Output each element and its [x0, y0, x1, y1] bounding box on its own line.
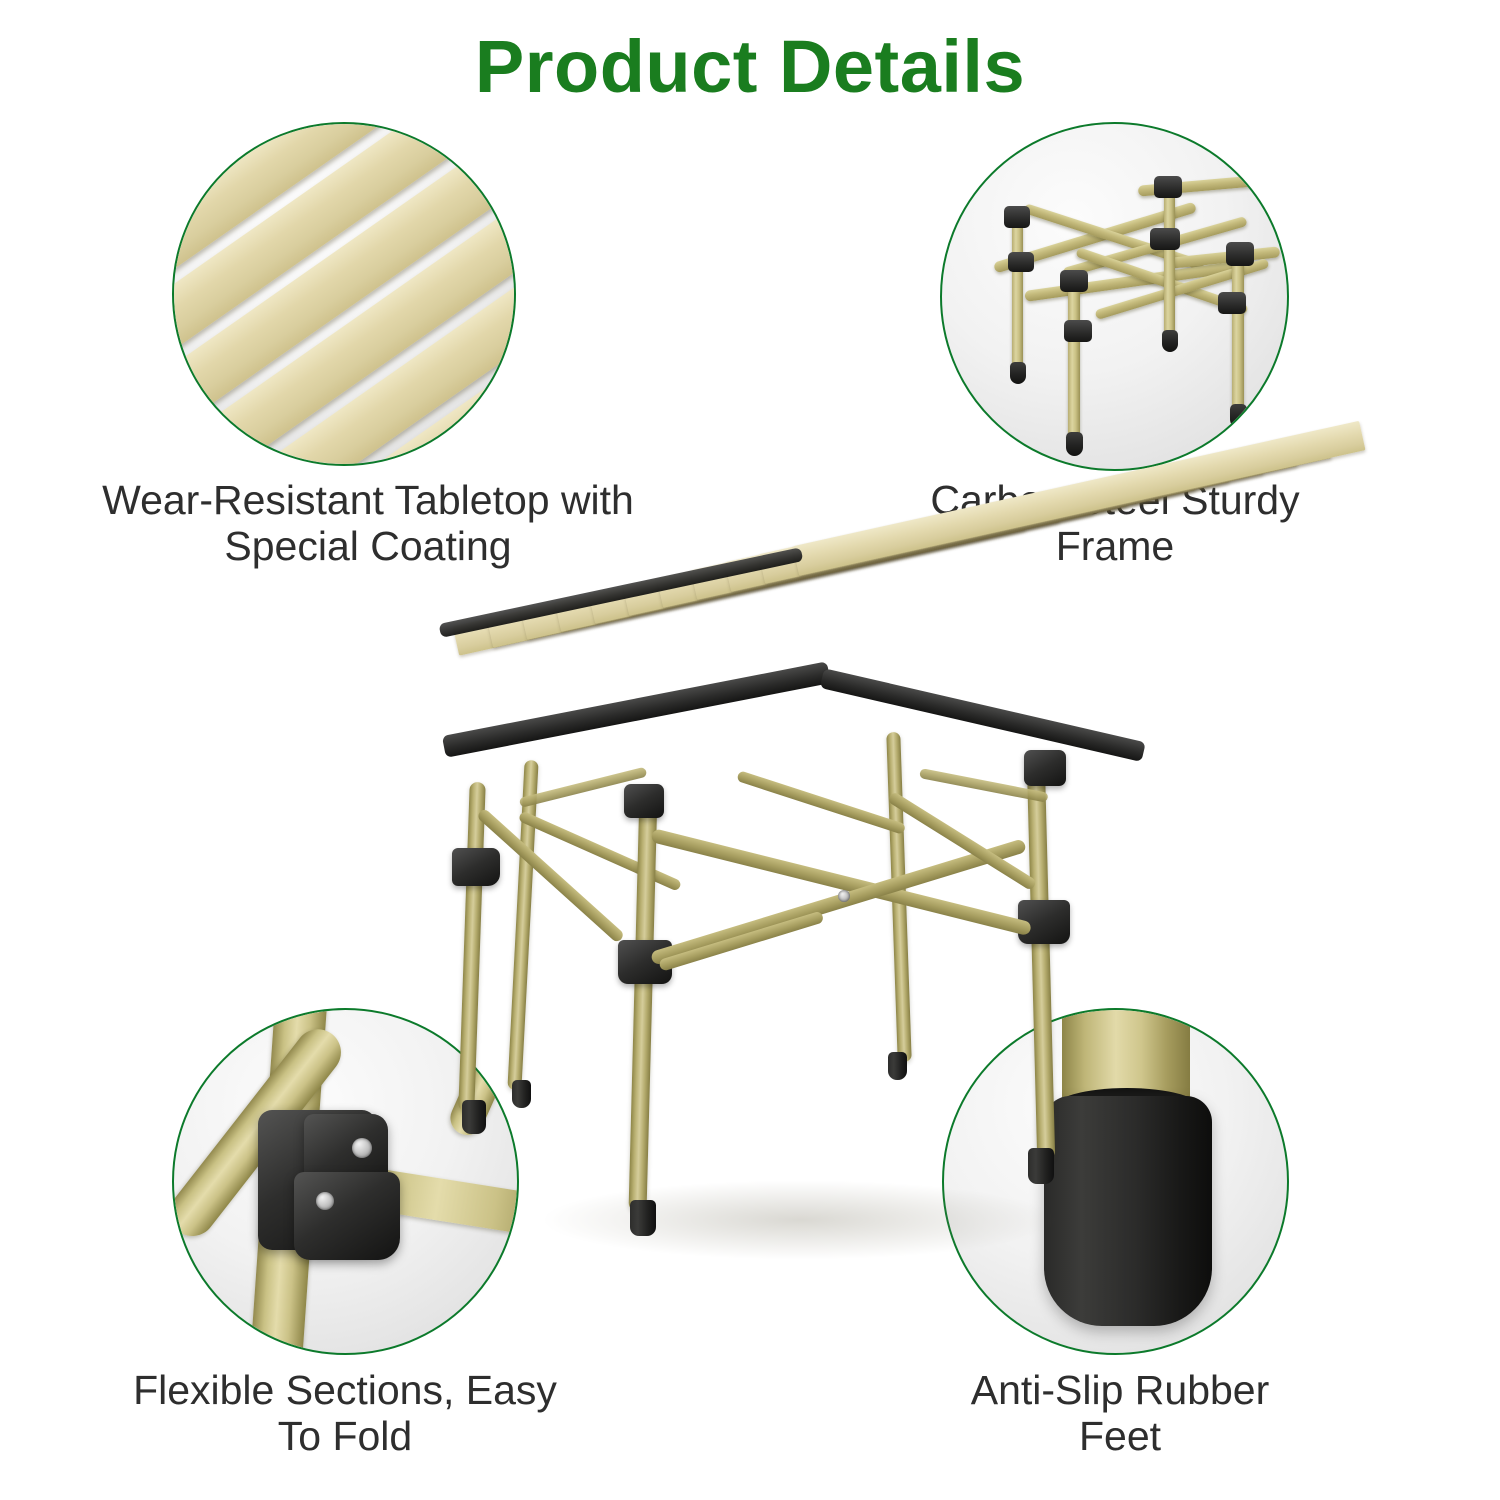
- tabletop-slats-closeup-icon: [174, 124, 514, 464]
- table-foot-front-left: [630, 1200, 656, 1236]
- ground-shadow: [540, 1180, 1060, 1260]
- leg-joint-front-left-top: [624, 784, 664, 818]
- main-product-image: [420, 560, 1160, 1280]
- caption-line-2: To Fold: [55, 1414, 635, 1460]
- feature-feet-caption: Anti-Slip Rubber Feet: [885, 1368, 1355, 1460]
- feature-frame-circle: [940, 122, 1289, 471]
- table-foot-back-left: [512, 1080, 531, 1108]
- caption-line-1: Anti-Slip Rubber: [885, 1368, 1355, 1414]
- feature-tabletop-circle: [172, 122, 516, 466]
- feature-tabletop-caption: Wear-Resistant Tabletop with Special Coa…: [10, 478, 726, 570]
- table-foot-left-outer: [462, 1100, 486, 1134]
- caption-line-1: Wear-Resistant Tabletop with: [10, 478, 726, 524]
- product-details-page: Product Details: [0, 0, 1500, 1500]
- leg-joint-left-outer: [452, 848, 500, 886]
- table-foot-front-right: [1028, 1148, 1054, 1184]
- caption-line-2: Feet: [885, 1414, 1355, 1460]
- page-title: Product Details: [0, 28, 1500, 106]
- leg-joint-front-right-top: [1024, 750, 1066, 786]
- caption-line-1: Flexible Sections, Easy: [55, 1368, 635, 1414]
- table-foot-back-right: [888, 1052, 907, 1080]
- cross-brace-pivot: [838, 890, 850, 902]
- feature-hinge-caption: Flexible Sections, Easy To Fold: [55, 1368, 635, 1460]
- carbon-steel-frame-icon: [942, 124, 1287, 469]
